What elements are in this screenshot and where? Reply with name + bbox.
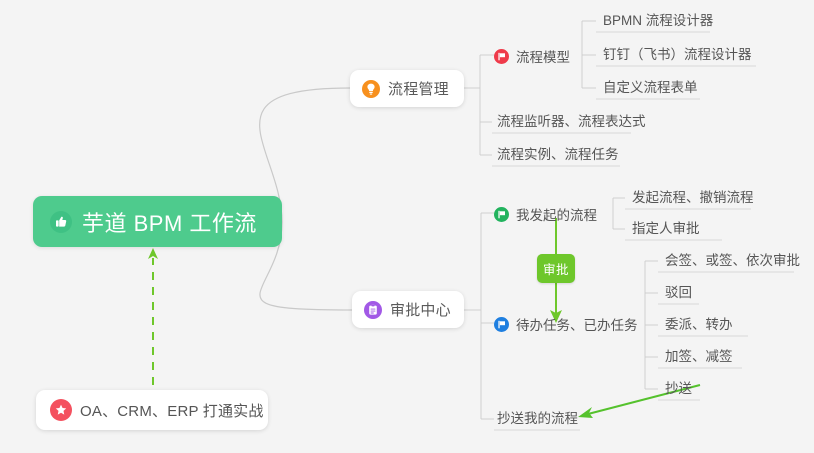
branch-label-process-management: 流程管理 bbox=[388, 78, 449, 99]
lightbulb-icon bbox=[362, 80, 380, 98]
branch-label-approval-center: 审批中心 bbox=[390, 299, 451, 320]
leaf-label: 流程监听器、流程表达式 bbox=[494, 114, 649, 134]
leaf-item[interactable]: 流程实例、流程任务 bbox=[494, 147, 622, 167]
root-label: 芋道 BPM 工作流 bbox=[82, 206, 257, 238]
leaf-item[interactable]: 流程监听器、流程表达式 bbox=[494, 114, 649, 134]
leaf-label: 发起流程、撤销流程 bbox=[629, 190, 757, 210]
leaf-label: 驳回 bbox=[662, 285, 695, 305]
leaf-label: 钉钉（飞书）流程设计器 bbox=[600, 47, 755, 67]
leaf-item[interactable]: BPMN 流程设计器 bbox=[600, 13, 716, 33]
leaf-item[interactable]: 抄送我的流程 bbox=[494, 411, 581, 431]
leaf-label: 委派、转办 bbox=[662, 317, 736, 337]
group-label-process-model: 流程模型 bbox=[516, 46, 570, 66]
note-to-root-arrow bbox=[148, 248, 158, 385]
leaf-label: 指定人审批 bbox=[629, 221, 703, 241]
leaf-item[interactable]: 自定义流程表单 bbox=[600, 80, 701, 100]
leaf-item[interactable]: 加签、减签 bbox=[662, 349, 736, 369]
group-node-process-model[interactable]: 流程模型 bbox=[494, 46, 570, 66]
note-card-oa-crm-erp[interactable]: OA、CRM、ERP 打通实战 bbox=[36, 390, 268, 430]
group-node-my-initiated[interactable]: 我发起的流程 bbox=[494, 204, 597, 224]
thumbs-up-icon bbox=[50, 211, 72, 233]
clipboard-icon bbox=[364, 301, 382, 319]
flag-icon bbox=[494, 317, 509, 332]
group-label-tasks: 待办任务、已办任务 bbox=[516, 314, 638, 334]
leaf-label: 流程实例、流程任务 bbox=[494, 147, 622, 167]
flag-icon bbox=[494, 207, 509, 222]
leaf-item[interactable]: 指定人审批 bbox=[629, 221, 703, 241]
group-node-tasks[interactable]: 待办任务、已办任务 bbox=[494, 314, 638, 334]
root-node[interactable]: 芋道 BPM 工作流 bbox=[33, 196, 282, 247]
leaf-item[interactable]: 发起流程、撤销流程 bbox=[629, 190, 757, 210]
group-label-my-initiated: 我发起的流程 bbox=[516, 204, 597, 224]
branch-node-approval-center[interactable]: 审批中心 bbox=[352, 291, 464, 328]
star-icon bbox=[50, 399, 72, 421]
leaf-label: 会签、或签、依次审批 bbox=[662, 253, 803, 273]
note-label: OA、CRM、ERP 打通实战 bbox=[80, 400, 264, 421]
branch-node-process-management[interactable]: 流程管理 bbox=[350, 70, 464, 107]
leaf-label: 自定义流程表单 bbox=[600, 80, 701, 100]
mindmap-canvas: 芋道 BPM 工作流 OA、CRM、ERP 打通实战 流程管理 bbox=[0, 0, 814, 453]
leaf-label: 加签、减签 bbox=[662, 349, 736, 369]
leaf-item[interactable]: 会签、或签、依次审批 bbox=[662, 253, 803, 273]
callout-badge-approval[interactable]: 审批 bbox=[537, 254, 575, 283]
leaf-item[interactable]: 驳回 bbox=[662, 285, 695, 305]
leaf-item[interactable]: 钉钉（飞书）流程设计器 bbox=[600, 47, 755, 67]
flag-icon bbox=[494, 49, 509, 64]
leaf-label: 抄送我的流程 bbox=[494, 411, 581, 431]
leaf-label: BPMN 流程设计器 bbox=[600, 13, 716, 33]
leaf-item[interactable]: 委派、转办 bbox=[662, 317, 736, 337]
leaf-label: 抄送 bbox=[662, 381, 695, 401]
leaf-item[interactable]: 抄送 bbox=[662, 381, 695, 401]
callout-label: 审批 bbox=[543, 259, 569, 278]
